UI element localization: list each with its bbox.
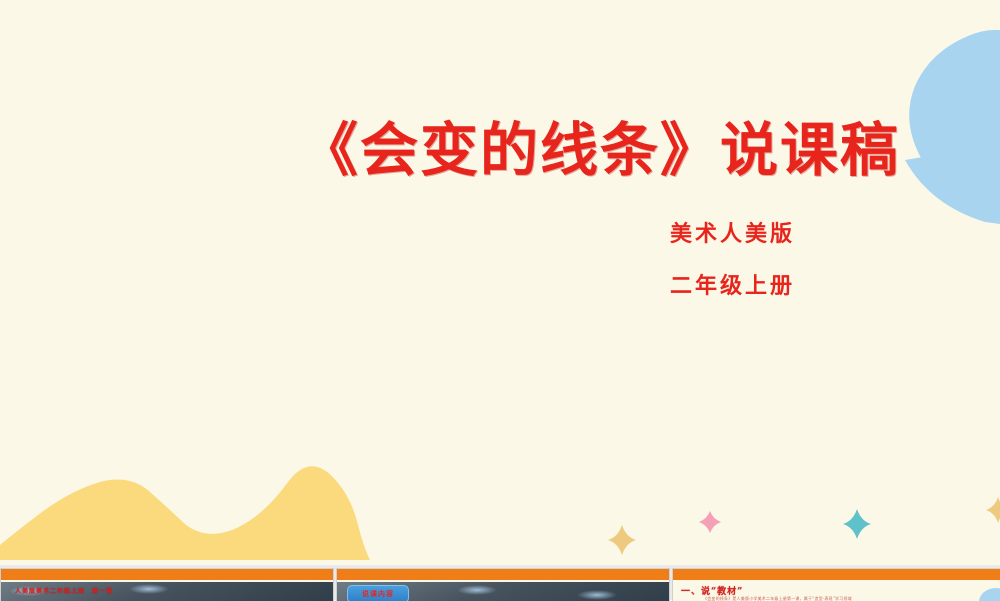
subtitle-edition: 美术人美版 xyxy=(560,222,905,246)
thumbnail-cover-body: 人美版美术二年级上册 第一课 xyxy=(1,582,333,601)
subtitle-block: 美术人美版 二年级上册 xyxy=(560,222,905,298)
thumbnail-material-body-text: 《会变的线条》是人美版小学美术二年级上册第一课，属于“造型·表现”学习领域 xyxy=(703,596,852,601)
thumbnail-cover[interactable]: 人美版美术二年级上册 第一课 xyxy=(0,568,334,601)
teal-sparkle-icon xyxy=(843,509,871,539)
thumbnail-contents-button-label: 说课内容 xyxy=(362,589,394,599)
thumbnail-cover-top-bar xyxy=(1,569,333,580)
yellow-wave-shape xyxy=(0,466,370,560)
thumbnail-cover-heading: 人美版美术二年级上册 第一课 xyxy=(15,586,113,595)
gold-sparkle-left-icon xyxy=(608,525,636,555)
thumbnail-material-body: 一、说“教材” 《会变的线条》是人美版小学美术二年级上册第一课，属于“造型·表现… xyxy=(673,582,1000,601)
thumbnail-glow xyxy=(129,584,169,594)
thumbnail-glow xyxy=(577,590,617,600)
thumbnail-glow xyxy=(457,585,497,595)
thumbnail-contents-top-bar xyxy=(337,569,669,580)
gold-sparkle-right-icon xyxy=(986,497,1000,523)
thumbnail-teaching-material[interactable]: 一、说“教材” 《会变的线条》是人美版小学美术二年级上册第一课，属于“造型·表现… xyxy=(672,568,1000,601)
thumbnail-contents-body: 说课内容 xyxy=(337,582,669,601)
thumbnail-contents-button: 说课内容 xyxy=(347,585,409,601)
thumbnail-blue-blob xyxy=(979,588,1000,601)
thumbnail-contents[interactable]: 说课内容 xyxy=(336,568,670,601)
subtitle-grade: 二年级上册 xyxy=(560,274,905,298)
page-title: 《会变的线条》说课稿 xyxy=(240,118,960,183)
pink-sparkle-icon xyxy=(699,511,721,533)
thumbnail-material-top-bar xyxy=(673,569,1000,580)
slide-canvas: 《会变的线条》说课稿 美术人美版 二年级上册 xyxy=(0,0,1000,565)
thumbnail-strip[interactable]: 人美版美术二年级上册 第一课 说课内容 一、说“教材” 《会变的线条》是人美版小… xyxy=(0,565,1000,600)
title-block: 《会变的线条》说课稿 xyxy=(240,118,960,183)
